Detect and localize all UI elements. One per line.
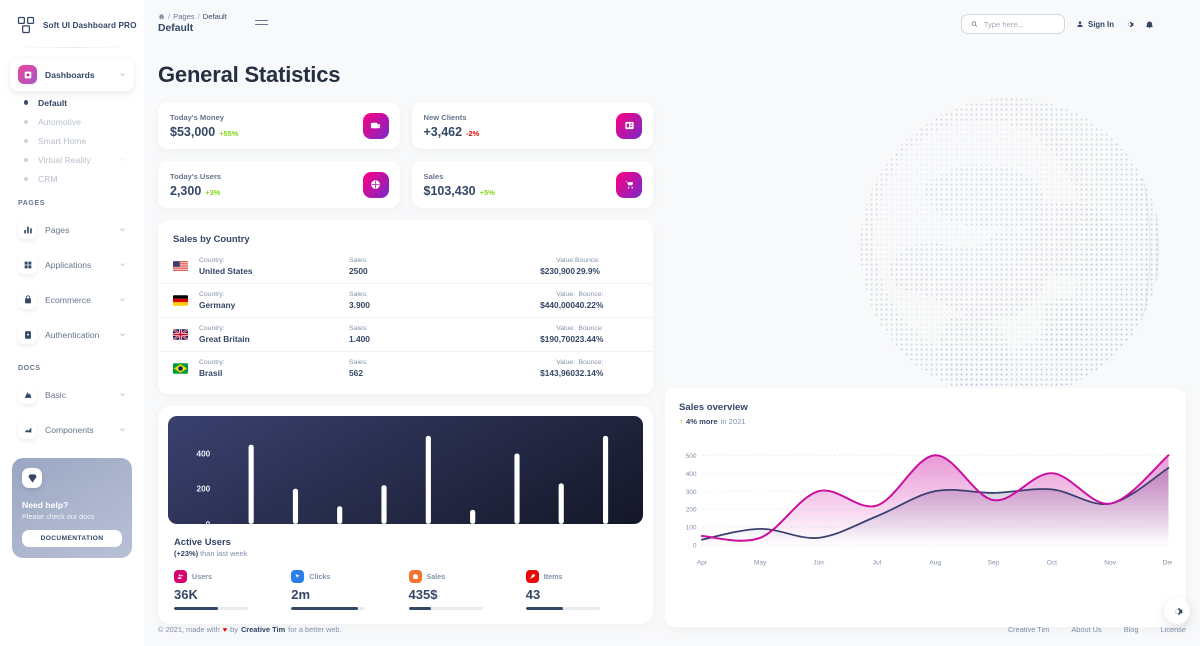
svg-text:Apr: Apr (697, 559, 708, 566)
documentation-button[interactable]: DOCUMENTATION (22, 530, 122, 547)
cell-key: Value: (457, 325, 575, 332)
stat-value: $103,430 (424, 184, 476, 198)
cell-key: Bounce: (575, 291, 603, 298)
navbar-right: Sign In (961, 14, 1154, 34)
sidebar-item-authentication[interactable]: Authentication (10, 318, 134, 351)
sidebar-subitem-crm[interactable]: CRM (10, 169, 134, 188)
breadcrumb-separator: / (168, 12, 170, 21)
stat-value-wrap: +3,462 -2% (424, 125, 480, 139)
components-icon (18, 420, 37, 439)
gear-icon (1172, 606, 1183, 617)
metric-items: Items 43 (526, 570, 637, 610)
gb-flag (173, 329, 188, 340)
metric-name: Clicks (309, 572, 330, 581)
stat-value-wrap: 2,300 +3% (170, 184, 221, 198)
gear-icon[interactable] (1125, 20, 1134, 29)
stat-card-todays-money[interactable]: Today's Money $53,000 +55% (158, 102, 400, 149)
svg-text:200: 200 (686, 507, 697, 514)
cell-bounce: Bounce:40.22% (575, 291, 648, 310)
users-icon (174, 570, 187, 583)
sidebar-item-label: Basic (45, 390, 66, 400)
sidebar-item-label: Dashboards (45, 70, 95, 80)
dashboard-icon (18, 65, 37, 84)
svg-text:Jun: Jun (813, 559, 824, 566)
help-title: Need help? (22, 500, 122, 510)
breadcrumb-separator: / (198, 12, 200, 21)
stat-value: 2,300 (170, 184, 201, 198)
brand[interactable]: Soft UI Dashboard PRO (0, 0, 144, 47)
cell-value: 32.14% (575, 368, 603, 378)
main-area: / Pages / Default Default Sign In (144, 0, 1200, 646)
cell-key: Bounce: (575, 359, 603, 366)
cell-key: Sales: (349, 257, 457, 264)
cell-sales: Sales:562 (349, 359, 457, 378)
authentication-icon (18, 325, 37, 344)
metric-name: Users (192, 572, 212, 581)
table-row[interactable]: Country:United States Sales:2500 Value:$… (158, 250, 653, 284)
stat-card-sales[interactable]: Sales $103,430 +5% (412, 161, 654, 208)
applications-icon (18, 255, 37, 274)
active-users-header: Active Users (+23%) than last week (168, 524, 643, 562)
de-flag (173, 295, 188, 306)
bullet-icon (24, 177, 28, 181)
svg-text:300: 300 (686, 489, 697, 496)
active-users-metrics: Users 36K Clicks (168, 562, 643, 614)
sign-in-label: Sign In (1088, 20, 1114, 29)
chevron-down-icon (119, 331, 126, 338)
metric-head: Users (174, 570, 285, 583)
cell-sales: Sales:1.400 (349, 325, 457, 344)
stat-label: Sales (424, 172, 495, 181)
bullet-icon (24, 100, 28, 105)
cell-key: Country: (199, 359, 349, 366)
sidebar-item-pages[interactable]: Pages (10, 213, 134, 246)
sidebar: Soft UI Dashboard PRO Dashboards Default… (0, 0, 144, 646)
cell-bounce: Bounce:32.14% (575, 359, 648, 378)
sidebar-item-label: Pages (45, 225, 69, 235)
stat-card-todays-users[interactable]: Today's Users 2,300 +3% (158, 161, 400, 208)
stat-label: New Clients (424, 113, 480, 122)
stat-text: Today's Money $53,000 +55% (170, 113, 238, 139)
user-icon (1076, 20, 1084, 28)
help-card: Need help? Please check our docs DOCUMEN… (12, 458, 132, 558)
svg-text:Sep: Sep (988, 559, 1000, 566)
metric-sales: Sales 435$ (409, 570, 520, 610)
right-column: Sales overview ↑ 4% more in 2021 (665, 102, 1186, 627)
sidebar-subitem-label: Automotive (38, 117, 81, 127)
sidebar-section-docs: DOCS (10, 353, 134, 378)
cell-bounce: Bounce:23.44% (575, 325, 648, 344)
cell-sales: Sales:2500 (349, 257, 457, 276)
breadcrumb-block: / Pages / Default Default (158, 12, 227, 34)
metric-clicks: Clicks 2m (291, 570, 402, 610)
metric-progress (174, 607, 248, 610)
table-row[interactable]: Country:Brasil Sales:562 Value:$143,960 … (158, 352, 653, 385)
svg-text:400: 400 (686, 471, 697, 478)
cell-value: 1.400 (349, 334, 457, 344)
sidebar-item-label: Ecommerce (45, 295, 91, 305)
cart-icon (616, 172, 642, 198)
stat-value-wrap: $53,000 +55% (170, 125, 238, 139)
cell-value: Germany (199, 300, 349, 310)
sidebar-item-applications[interactable]: Applications (10, 248, 134, 281)
sidebar-item-label: Components (45, 425, 94, 435)
page-heading: General Statistics (158, 62, 1200, 88)
active-users-subtitle: (+23%) than last week (174, 549, 637, 558)
sales-overview-subtitle: ↑ 4% more in 2021 (679, 417, 1172, 426)
shop-icon (409, 570, 422, 583)
chevron-down-icon (119, 391, 126, 398)
sidebar-item-ecommerce[interactable]: Ecommerce (10, 283, 134, 316)
active-users-card: 0200400 Active Users (+23%) than last we… (158, 406, 653, 624)
metric-progress-fill (409, 607, 431, 610)
wallet-icon (363, 113, 389, 139)
us-flag (173, 261, 188, 272)
sales-by-country-card: Sales by Country Country:United States S… (158, 220, 653, 394)
cell-value: 40.22% (575, 300, 603, 310)
table-row[interactable]: Country:Germany Sales:3.900 Value:$440,0… (158, 284, 653, 318)
svg-text:400: 400 (197, 449, 211, 458)
sales-overview-card: Sales overview ↑ 4% more in 2021 (665, 388, 1186, 627)
chevron-down-icon (119, 426, 126, 433)
stat-delta: +55% (219, 129, 238, 138)
cell-country: Country:Great Britain (199, 325, 349, 344)
stat-text: New Clients +3,462 -2% (424, 113, 480, 139)
sidebar-item-components[interactable]: Components (10, 413, 134, 446)
search-box[interactable] (961, 14, 1065, 34)
search-input[interactable] (984, 20, 1055, 29)
cell-key: Sales: (349, 291, 457, 298)
cell-key: Country: (199, 291, 349, 298)
stat-label: Today's Money (170, 113, 238, 122)
bullet-icon (24, 158, 28, 162)
sidebar-item-label: Authentication (45, 330, 99, 340)
up-arrow-icon: ↑ (679, 418, 683, 426)
metric-progress (409, 607, 483, 610)
rocket-icon (526, 570, 539, 583)
metric-name: Items (544, 572, 563, 581)
svg-text:Aug: Aug (929, 559, 941, 566)
metric-value: 435$ (409, 587, 520, 602)
bullet-icon (24, 139, 28, 143)
chevron-down-icon (119, 261, 126, 268)
left-column: Today's Money $53,000 +55% New Cli (158, 102, 653, 627)
metric-value: 2m (291, 587, 402, 602)
svg-text:500: 500 (686, 453, 697, 460)
sales-by-country-title: Sales by Country (158, 233, 653, 250)
breadcrumb-item-pages[interactable]: Pages (173, 12, 195, 21)
stat-label: Today's Users (170, 172, 221, 181)
sidebar-subitem-label: CRM (38, 174, 58, 184)
cell-bounce: Bounce:29.9% (575, 257, 645, 276)
sidebar-nav: Dashboards Default Automotive Smart Home… (0, 58, 144, 481)
sidebar-subitem-label: Virtual Reality (38, 155, 91, 165)
stat-text: Today's Users 2,300 +3% (170, 172, 221, 198)
svg-text:Jul: Jul (873, 559, 882, 566)
chevron-down-icon (119, 71, 126, 78)
sidebar-item-basic[interactable]: Basic (10, 378, 134, 411)
cell-key: Bounce: (575, 257, 600, 264)
sidebar-subitem-automotive[interactable]: Automotive (10, 112, 134, 131)
metric-progress-fill (526, 607, 563, 610)
cell-country: Country:United States (199, 257, 349, 276)
cell-key: Value: (457, 359, 575, 366)
active-users-period: than last week (198, 549, 247, 558)
sidebar-subitem-smart-home[interactable]: Smart Home (10, 131, 134, 150)
svg-text:Oct: Oct (1047, 559, 1057, 566)
search-icon (971, 20, 978, 28)
cell-value: Brasil (199, 368, 349, 378)
cell-country: Country:Brasil (199, 359, 349, 378)
cell-value: 562 (349, 368, 457, 378)
sidebar-item-label: Applications (45, 260, 91, 270)
cell-value: United States (199, 266, 349, 276)
sidebar-subitem-label: Smart Home (38, 136, 86, 146)
cell-value-col: Value:$230,900 (457, 257, 575, 276)
metric-users: Users 36K (174, 570, 285, 610)
stat-text: Sales $103,430 +5% (424, 172, 495, 198)
cell-value: $440,000 (457, 300, 575, 310)
top-navbar: / Pages / Default Default Sign In (144, 0, 1200, 46)
cell-key: Sales: (349, 359, 457, 366)
stat-value: $53,000 (170, 125, 215, 139)
bar-chart-svg: 0200400 (168, 416, 643, 524)
stat-delta: +3% (205, 188, 220, 197)
cell-value: $143,960 (457, 368, 575, 378)
sign-in-button[interactable]: Sign In (1076, 20, 1114, 29)
settings-fab-button[interactable] (1164, 598, 1190, 624)
metric-value: 43 (526, 587, 637, 602)
main-row-top: Today's Money $53,000 +55% New Cli (158, 102, 1186, 627)
metric-name: Sales (427, 572, 446, 581)
cell-value: 23.44% (575, 334, 603, 344)
cell-key: Country: (199, 257, 349, 264)
cell-value-col: Value:$190,700 (457, 325, 575, 344)
cell-key: Sales: (349, 325, 457, 332)
metric-head: Clicks (291, 570, 402, 583)
cell-country: Country:Germany (199, 291, 349, 310)
breadcrumb-item-default: Default (203, 12, 227, 21)
metric-value: 36K (174, 587, 285, 602)
sidebar-section-pages: PAGES (10, 188, 134, 213)
active-users-title: Active Users (174, 536, 637, 547)
cell-value: 29.9% (575, 266, 600, 276)
sales-overview-delta: 4% more (686, 417, 718, 426)
chevron-down-icon (119, 156, 126, 163)
page-title: Default (158, 23, 227, 34)
sidebar-subitem-virtual-reality[interactable]: Virtual Reality (10, 150, 134, 169)
cell-value: 3.900 (349, 300, 457, 310)
cell-key: Value: (457, 291, 575, 298)
ecommerce-icon (18, 290, 37, 309)
active-users-bar-chart: 0200400 (168, 416, 643, 524)
cell-value-col: Value:$143,960 (457, 359, 575, 378)
breadcrumb: / Pages / Default (158, 12, 227, 21)
content-area: Today's Money $53,000 +55% New Cli (144, 102, 1200, 627)
home-icon[interactable] (158, 13, 165, 20)
sidebar-subitem-label: Default (38, 98, 67, 108)
cell-value: 2500 (349, 266, 457, 276)
bell-icon[interactable] (1145, 20, 1154, 29)
help-subtitle: Please check our docs (22, 512, 122, 521)
cell-key: Country: (199, 325, 349, 332)
stat-delta: -2% (466, 129, 479, 138)
cursor-icon (291, 570, 304, 583)
active-users-delta: (+23%) (174, 549, 198, 558)
svg-text:May: May (754, 559, 767, 566)
svg-text:Dec: Dec (1163, 559, 1172, 566)
br-flag (173, 363, 188, 374)
svg-text:200: 200 (197, 485, 211, 494)
svg-text:0: 0 (206, 520, 211, 524)
soft-ui-logo-icon (16, 15, 36, 35)
pages-icon (18, 220, 37, 239)
cell-value: Great Britain (199, 334, 349, 344)
metric-progress-fill (291, 607, 358, 610)
metric-progress-fill (174, 607, 218, 610)
chevron-down-icon (119, 296, 126, 303)
cell-key: Bounce: (575, 325, 603, 332)
divider (12, 47, 132, 48)
sales-overview-title: Sales overview (679, 402, 1172, 413)
stat-value-wrap: $103,430 +5% (424, 184, 495, 198)
metric-head: Sales (409, 570, 520, 583)
chevron-down-icon (119, 226, 126, 233)
stat-cards-grid: Today's Money $53,000 +55% New Cli (158, 102, 653, 208)
cell-value: $190,700 (457, 334, 575, 344)
metric-head: Items (526, 570, 637, 583)
diamond-icon (22, 468, 42, 488)
stat-value: +3,462 (424, 125, 463, 139)
globe-icon (363, 172, 389, 198)
cell-sales: Sales:3.900 (349, 291, 457, 310)
id-card-icon (616, 113, 642, 139)
metric-progress (291, 607, 365, 610)
metric-progress (526, 607, 600, 610)
svg-text:Nov: Nov (1104, 559, 1116, 566)
stat-delta: +5% (480, 188, 495, 197)
cell-value: $230,900 (457, 266, 575, 276)
sidebar-subitem-default[interactable]: Default (10, 93, 134, 112)
cell-key: Value: (457, 257, 575, 264)
svg-text:0: 0 (693, 543, 697, 550)
hamburger-icon[interactable] (255, 20, 268, 25)
table-row[interactable]: Country:Great Britain Sales:1.400 Value:… (158, 318, 653, 352)
svg-text:100: 100 (686, 525, 697, 532)
stat-card-new-clients[interactable]: New Clients +3,462 -2% (412, 102, 654, 149)
basic-icon (18, 385, 37, 404)
brand-name: Soft UI Dashboard PRO (43, 21, 137, 30)
sales-overview-chart: 0100200300400500 AprMayJunJulAugSepOctNo… (679, 434, 1172, 589)
sales-overview-period: in 2021 (721, 417, 746, 426)
cell-value-col: Value:$440,000 (457, 291, 575, 310)
bullet-icon (24, 120, 28, 124)
sidebar-item-dashboards[interactable]: Dashboards (10, 58, 134, 91)
